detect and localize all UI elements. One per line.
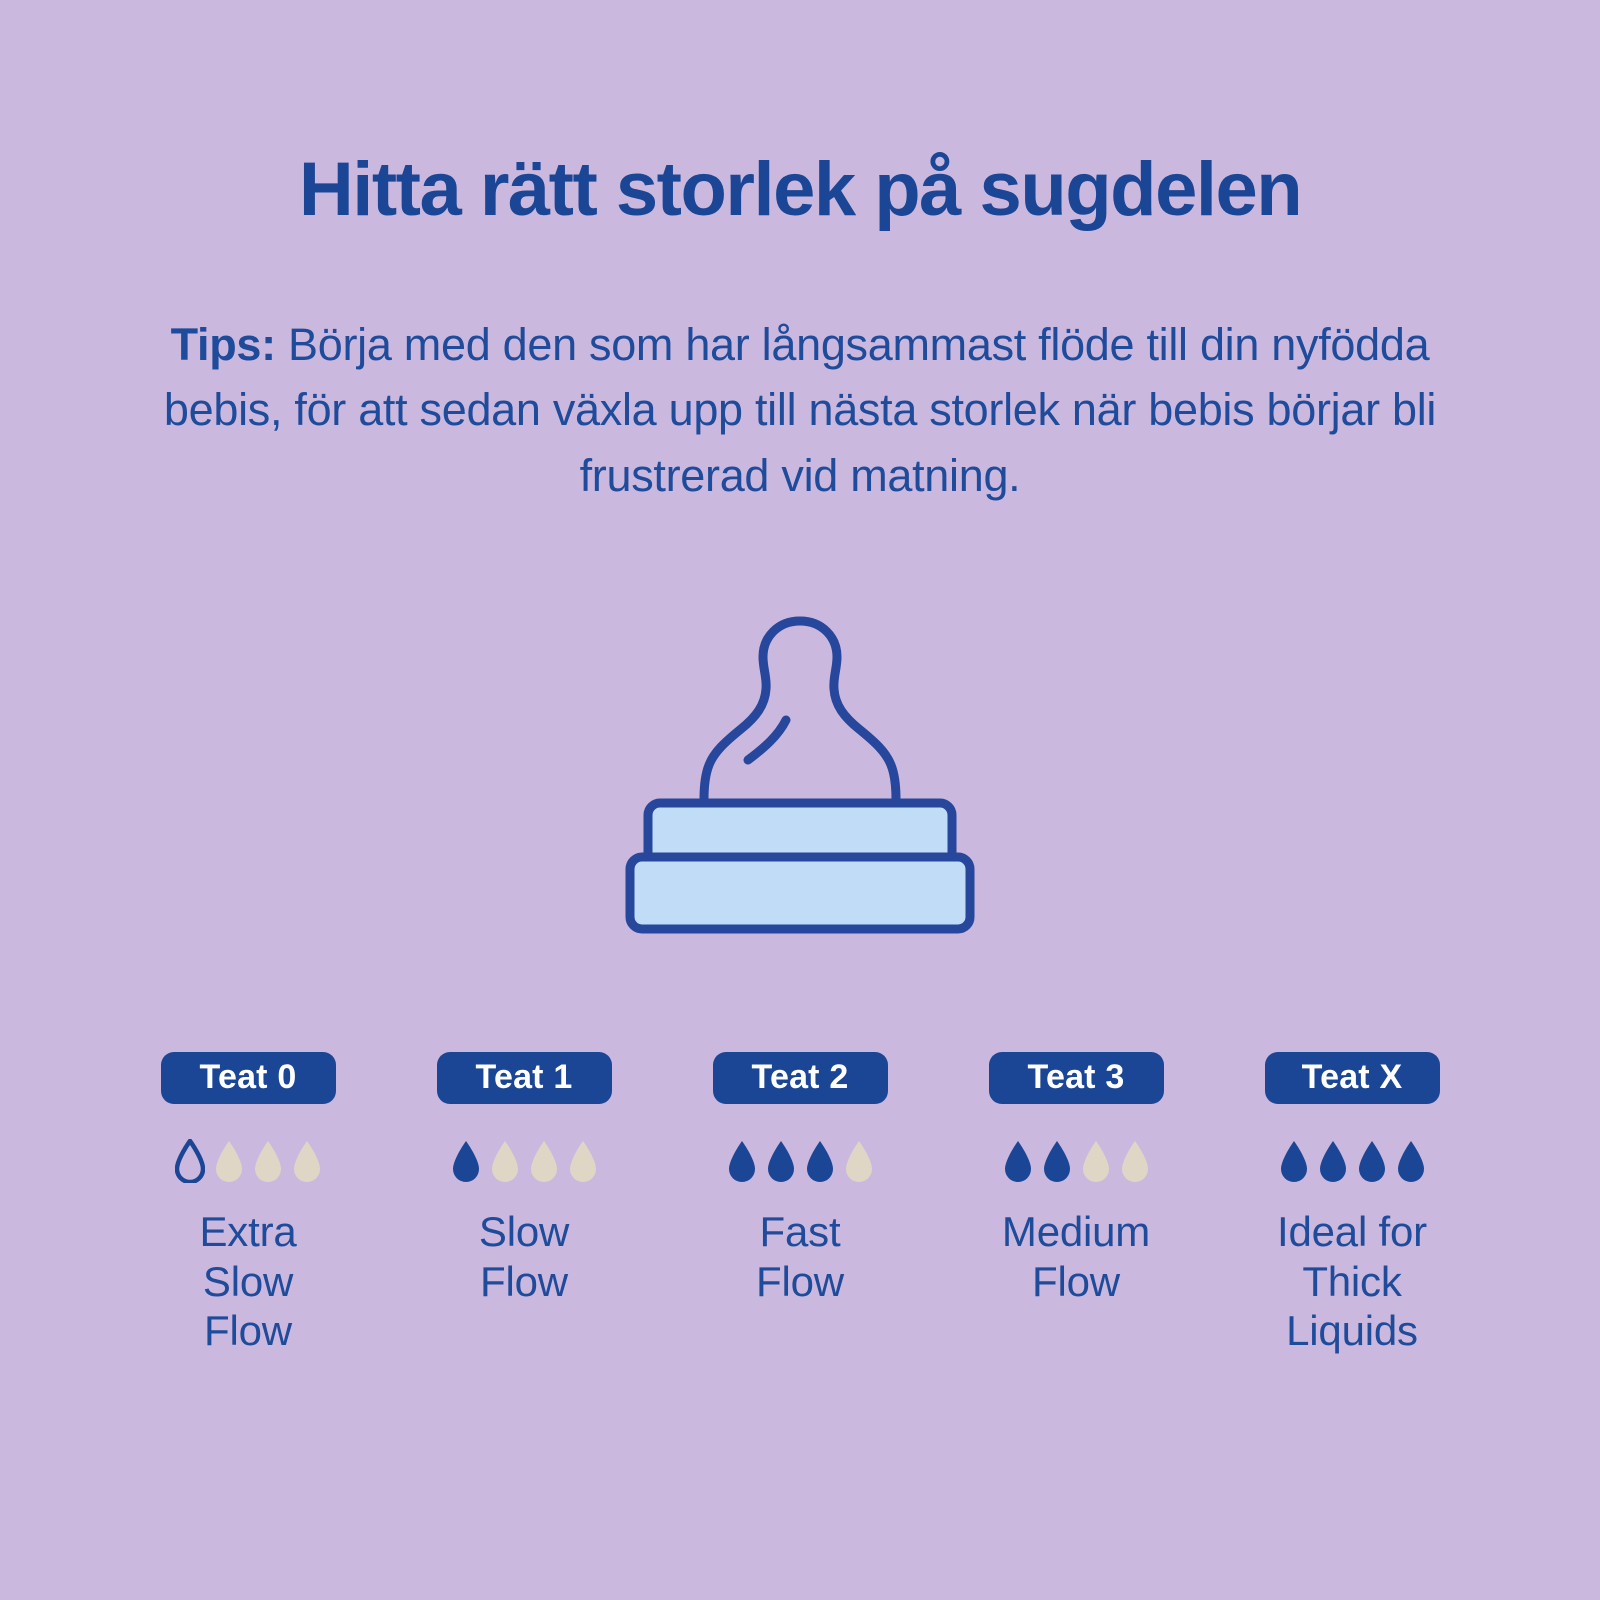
teat-badge[interactable]: Teat 0 [161, 1052, 336, 1104]
drop-filled-icon [727, 1139, 757, 1183]
drop-empty-icon [1120, 1139, 1150, 1183]
drop-empty-icon [253, 1139, 283, 1183]
teat-badge[interactable]: Teat 2 [713, 1052, 888, 1104]
drop-filled-icon [451, 1139, 481, 1183]
drop-outline-icon [175, 1139, 205, 1183]
bottle-teat-illustration [600, 585, 1000, 945]
drop-empty-icon [214, 1139, 244, 1183]
drop-filled-icon [1357, 1139, 1387, 1183]
flow-label: Ideal for Thick Liquids [1277, 1207, 1427, 1356]
flow-label: Slow Flow [479, 1207, 569, 1306]
drop-filled-icon [1279, 1139, 1309, 1183]
teat-column: Teat X Ideal for Thick Liquids [1214, 1052, 1490, 1356]
flow-drops [175, 1139, 322, 1185]
drop-empty-icon [529, 1139, 559, 1183]
flow-label: Medium Flow [1002, 1207, 1150, 1306]
flow-drops [451, 1139, 598, 1185]
drop-filled-icon [1042, 1139, 1072, 1183]
teat-column: Teat 0 Extra Slow Flow [110, 1052, 386, 1356]
teat-column: Teat 2 Fast Flow [662, 1052, 938, 1306]
flow-label: Extra Slow Flow [199, 1207, 296, 1356]
tips-label: Tips: [171, 319, 276, 370]
teat-badge[interactable]: Teat 3 [989, 1052, 1164, 1104]
flow-drops [727, 1139, 874, 1185]
bottle-teat-icon [600, 585, 1000, 945]
flow-drops [1279, 1139, 1426, 1185]
drop-empty-icon [292, 1139, 322, 1183]
drop-empty-icon [1081, 1139, 1111, 1183]
teat-column: Teat 1 Slow Flow [386, 1052, 662, 1306]
flow-label: Fast Flow [756, 1207, 844, 1306]
drop-filled-icon [805, 1139, 835, 1183]
drop-filled-icon [766, 1139, 796, 1183]
tips-body: Börja med den som har långsammast flöde … [164, 319, 1436, 501]
drop-empty-icon [490, 1139, 520, 1183]
infographic-canvas: Hitta rätt storlek på sugdelen Tips: Bör… [0, 0, 1600, 1600]
drop-filled-icon [1003, 1139, 1033, 1183]
drop-filled-icon [1396, 1139, 1426, 1183]
teat-badge[interactable]: Teat X [1265, 1052, 1440, 1104]
teat-column: Teat 3 Medium Flow [938, 1052, 1214, 1306]
drop-empty-icon [568, 1139, 598, 1183]
drop-filled-icon [1318, 1139, 1348, 1183]
flow-drops [1003, 1139, 1150, 1185]
teat-columns: Teat 0 Extra Slow Flow Teat 1 [110, 1052, 1490, 1356]
drop-empty-icon [844, 1139, 874, 1183]
page-title: Hitta rätt storlek på sugdelen [0, 150, 1600, 230]
teat-badge[interactable]: Teat 1 [437, 1052, 612, 1104]
tips-paragraph: Tips: Börja med den som har långsammast … [150, 312, 1450, 508]
